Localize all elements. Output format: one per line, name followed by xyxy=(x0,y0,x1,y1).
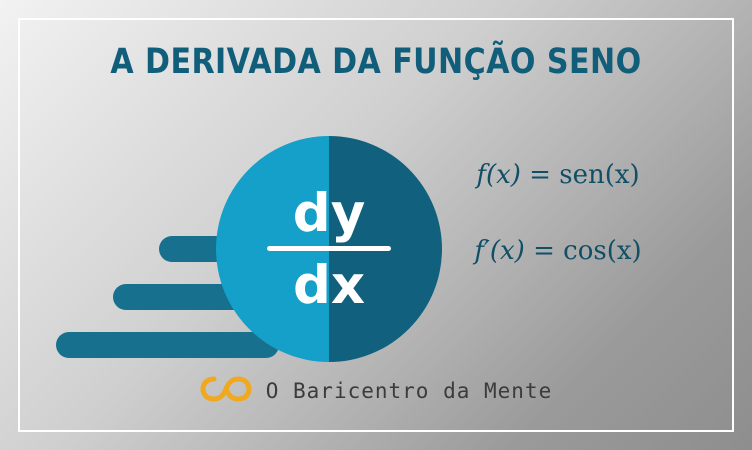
formula-derivative-eq: = xyxy=(525,236,563,266)
formula-function-lhs: f(x) xyxy=(476,160,521,190)
formula-derivative-lhs: f′(x) xyxy=(474,236,524,266)
infinity-icon xyxy=(200,374,252,408)
fraction-bar xyxy=(267,246,391,251)
fraction-denominator: dx xyxy=(293,259,365,312)
footer-brand: O Baricentro da Mente xyxy=(20,374,732,408)
page-title: A DERIVADA DA FUNÇÃO SENO xyxy=(70,42,682,82)
formula-function: f(x) = sen(x) xyxy=(408,160,708,190)
brand-name: O Baricentro da Mente xyxy=(266,379,553,403)
formula-function-rhs: sen(x) xyxy=(559,160,639,190)
poster-card: A DERIVADA DA FUNÇÃO SENO dy dx f(x) = s… xyxy=(0,0,752,450)
formula-derivative-rhs: cos(x) xyxy=(563,236,642,266)
formula-function-eq: = xyxy=(521,160,559,190)
inner-frame-border: A DERIVADA DA FUNÇÃO SENO dy dx f(x) = s… xyxy=(18,18,734,432)
fraction-numerator: dy xyxy=(293,187,366,240)
formula-list: f(x) = sen(x) f′(x) = cos(x) xyxy=(408,160,708,266)
derivative-logo-group: dy dx xyxy=(40,112,440,362)
formula-derivative: f′(x) = cos(x) xyxy=(408,236,708,266)
